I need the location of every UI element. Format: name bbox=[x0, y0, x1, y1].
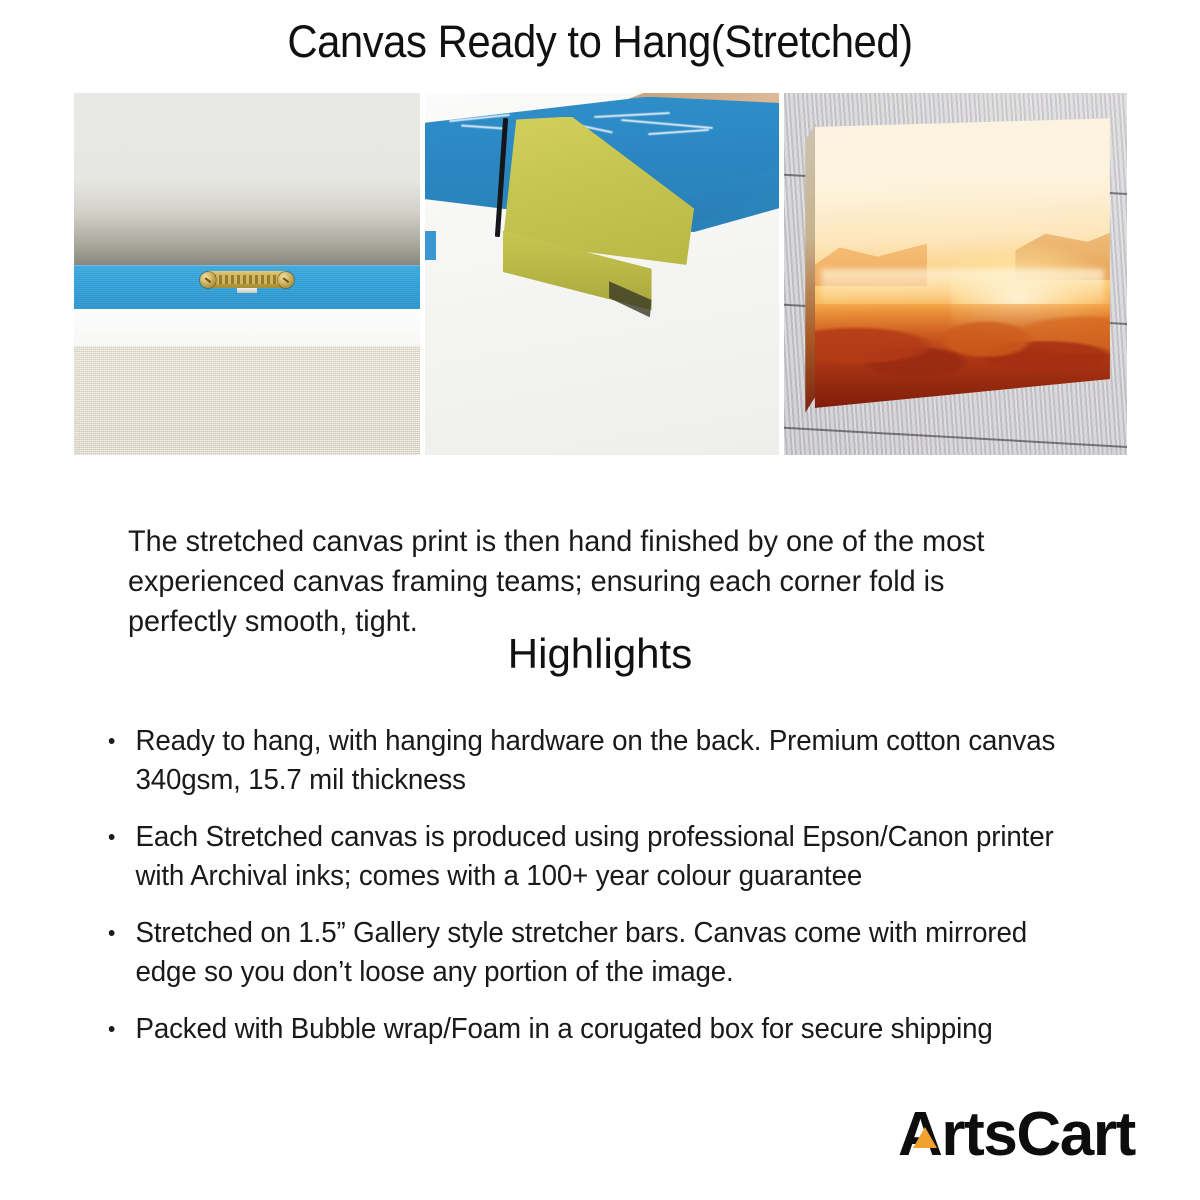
gallery-image-canvas-corner-fold[interactable] bbox=[425, 93, 779, 455]
intro-paragraph: The stretched canvas print is then hand … bbox=[128, 522, 1050, 642]
wave-line bbox=[648, 129, 709, 135]
wave-line bbox=[461, 125, 503, 130]
wave-line bbox=[621, 119, 713, 129]
bullet-dot-icon bbox=[109, 834, 115, 840]
cotton-canvas-surface bbox=[74, 346, 420, 455]
bullet-dot-icon bbox=[109, 1026, 115, 1032]
page-title: Canvas Ready to Hang(Stretched) bbox=[42, 14, 1158, 70]
gallery-image-hung-canvas-on-plank-wall[interactable] bbox=[784, 93, 1127, 455]
valley-mist bbox=[821, 269, 1104, 304]
triangle-icon bbox=[913, 1127, 937, 1148]
list-item-text: Packed with Bubble wrap/Foam in a coruga… bbox=[136, 1013, 993, 1045]
list-item: Packed with Bubble wrap/Foam in a coruga… bbox=[104, 1010, 1069, 1049]
gallery-image-canvas-back-hanging-hardware[interactable] bbox=[74, 93, 420, 455]
list-item: Stretched on 1.5” Gallery style stretche… bbox=[104, 914, 1069, 992]
list-item-text: Stretched on 1.5” Gallery style stretche… bbox=[136, 917, 1028, 988]
canvas-left-sliver bbox=[425, 231, 436, 260]
bullet-dot-icon bbox=[109, 930, 115, 936]
highlights-heading: Highlights bbox=[0, 629, 1200, 679]
sawtooth-hanger-icon bbox=[200, 270, 294, 290]
wave-line bbox=[594, 112, 670, 118]
canvas-white-strip bbox=[74, 309, 420, 349]
list-item-text: Each Stretched canvas is produced using … bbox=[136, 821, 1054, 892]
brand-logo[interactable]: ArtsCart bbox=[898, 1100, 1168, 1170]
hanger-screw-left bbox=[200, 272, 216, 288]
hanger-plate bbox=[208, 271, 286, 288]
list-item-text: Ready to hang, with hanging hardware on … bbox=[136, 725, 1056, 796]
hanger-screw-right bbox=[278, 272, 294, 288]
list-item: Each Stretched canvas is produced using … bbox=[104, 818, 1069, 896]
highlights-list: Ready to hang, with hanging hardware on … bbox=[104, 722, 1114, 1067]
list-item: Ready to hang, with hanging hardware on … bbox=[104, 722, 1069, 800]
sunset-landscape-canvas bbox=[815, 118, 1110, 408]
canvas-depth-edge bbox=[805, 123, 816, 413]
hanger-tab bbox=[237, 288, 257, 293]
product-image-gallery bbox=[74, 93, 1127, 455]
bullet-dot-icon bbox=[109, 738, 115, 744]
